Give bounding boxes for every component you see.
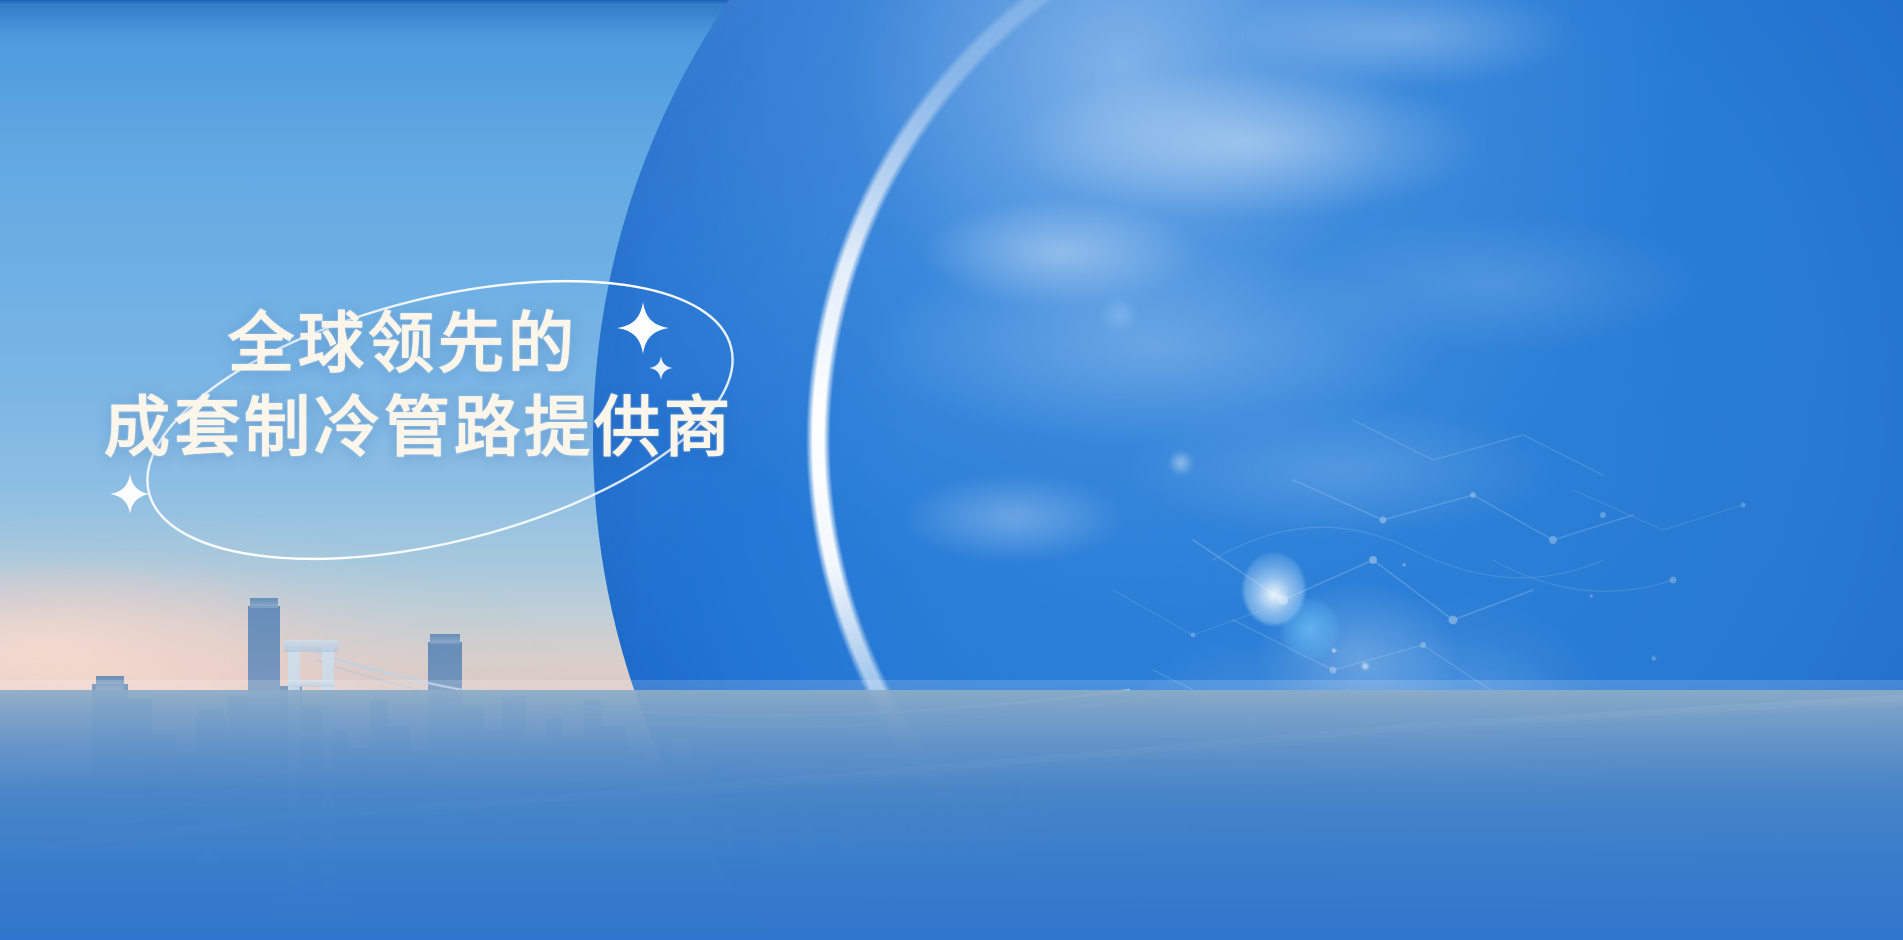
cityscape-foreground: [0, 520, 1903, 940]
water-sheen: [0, 680, 1903, 790]
headline-line-1: 全球领先的: [228, 305, 864, 383]
headline-block: 全球领先的 成套制冷管路提供商: [104, 305, 864, 467]
headline-line-2: 成套制冷管路提供商: [104, 389, 864, 467]
hero-banner: 全球领先的 成套制冷管路提供商: [0, 0, 1903, 940]
